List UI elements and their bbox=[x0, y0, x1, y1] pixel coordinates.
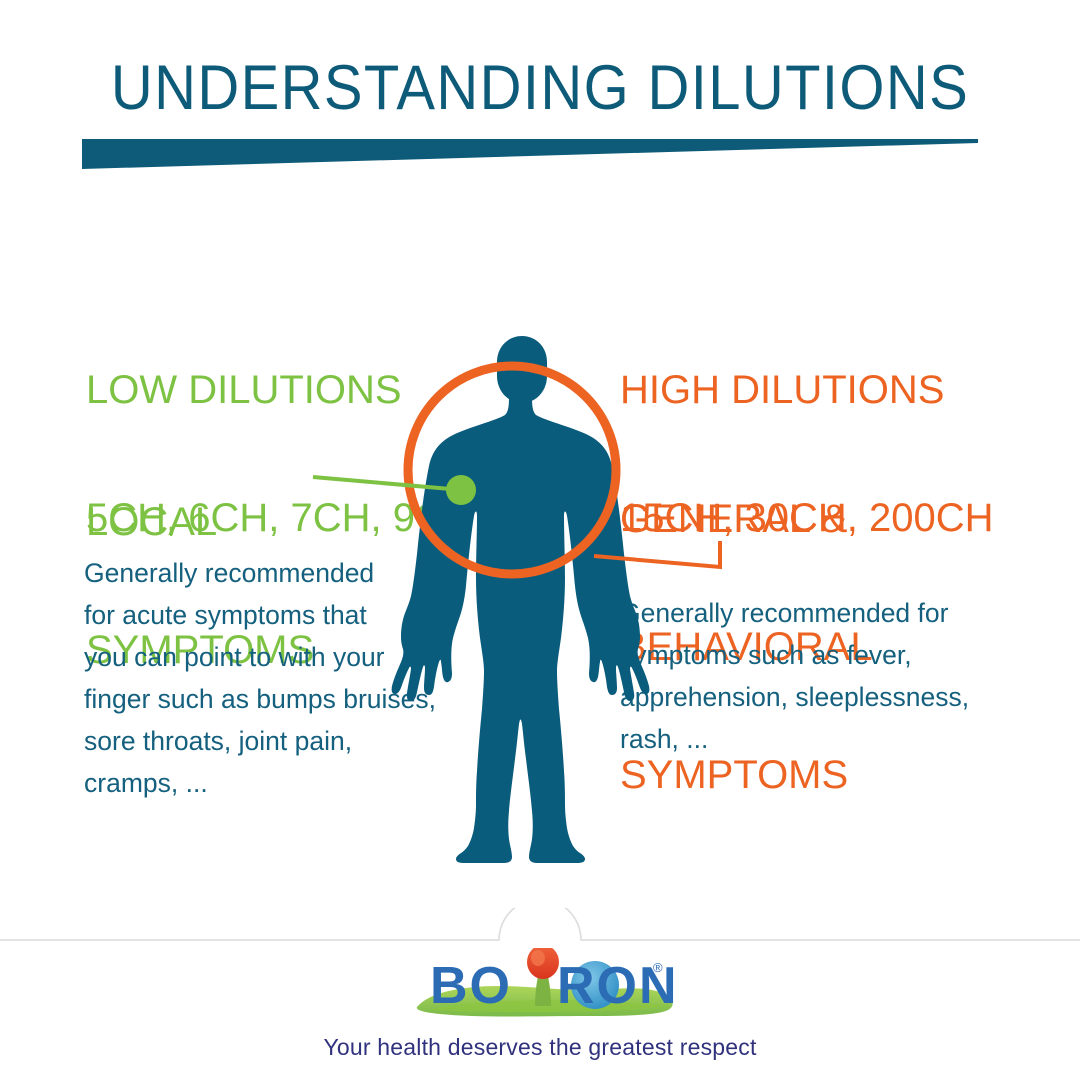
registered-trademark-mark: ® bbox=[653, 960, 663, 975]
brand-tagline: Your health deserves the greatest respec… bbox=[0, 1034, 1080, 1061]
human-body-silhouette bbox=[392, 336, 650, 863]
boiron-logo: BO RON ® bbox=[0, 948, 1080, 1028]
infographic-page: UNDERSTANDING DILUTIONS LOW DILUTIONS 5C… bbox=[0, 0, 1080, 1080]
boiron-wordmark-before: BO bbox=[430, 957, 512, 1015]
green-local-symptom-dot bbox=[446, 475, 476, 505]
